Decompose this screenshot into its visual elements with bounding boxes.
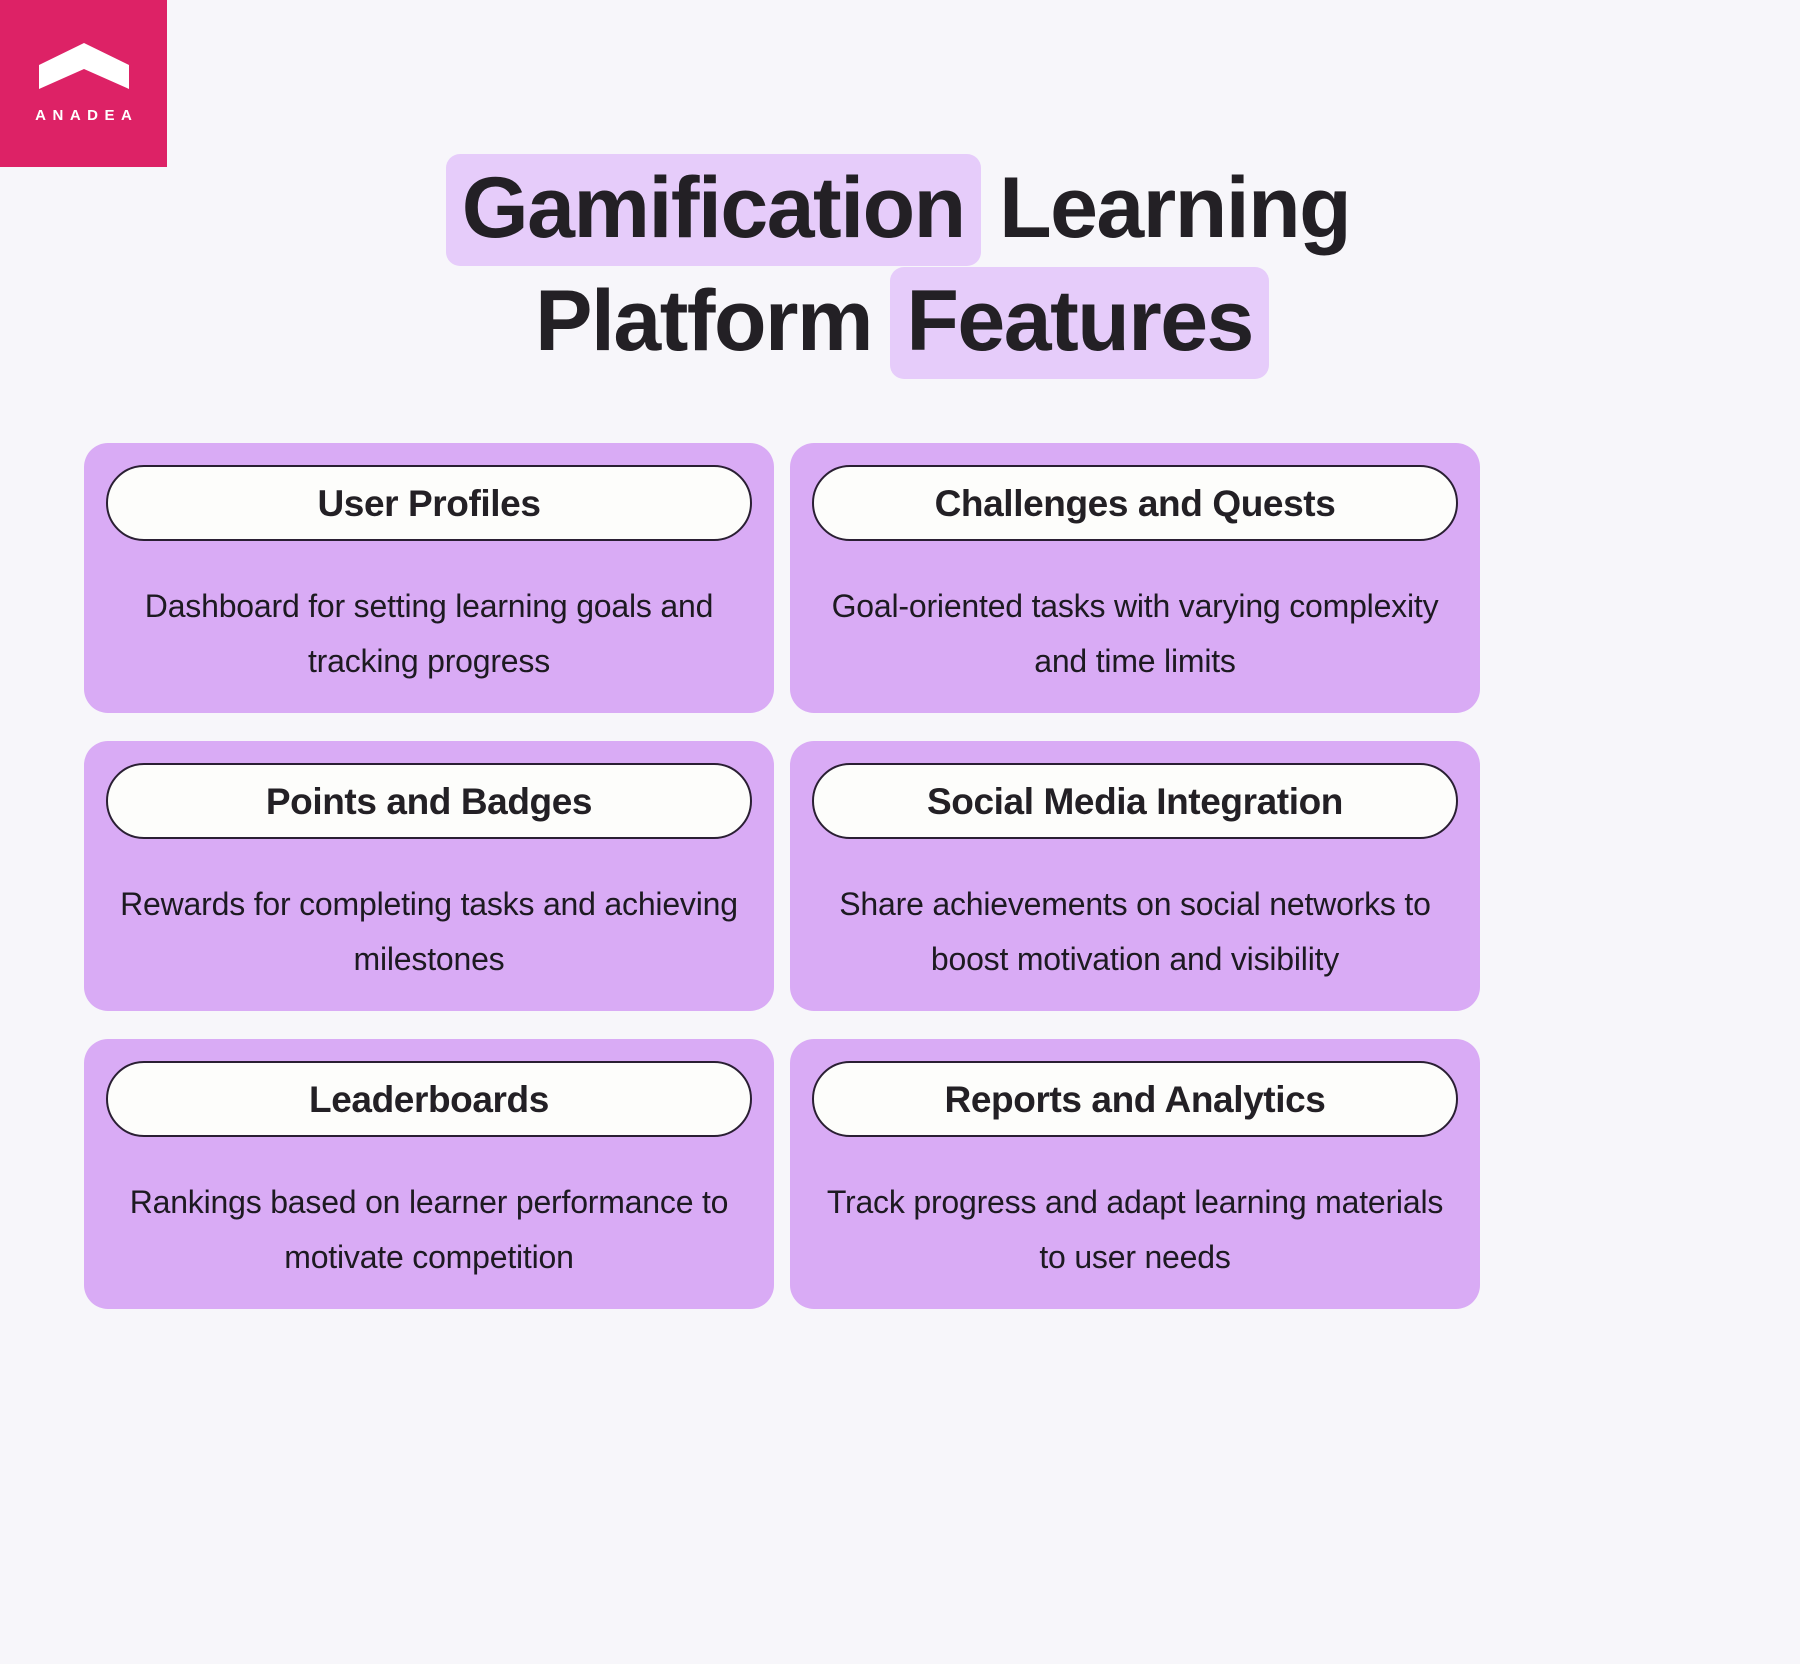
title-highlight-gamification: Gamification [446,154,981,266]
title-highlight-features: Features [890,267,1269,379]
feature-title-pill: Reports and Analytics [812,1061,1458,1137]
feature-title: Leaderboards [309,1081,549,1118]
feature-description: Goal-oriented tasks with varying complex… [815,579,1455,689]
feature-title: Social Media Integration [927,783,1343,820]
feature-description: Rankings based on learner performance to… [109,1175,749,1285]
feature-title: User Profiles [317,485,540,522]
feature-card-user-profiles: User Profiles Dashboard for setting lear… [84,443,774,713]
brand-logo: ANADEA [0,0,167,167]
brand-name: ANADEA [29,107,139,124]
title-line-2: Platform Features [0,265,1800,378]
page-title: Gamification Learning Platform Features [0,152,1800,378]
feature-card-points-and-badges: Points and Badges Rewards for completing… [84,741,774,1011]
feature-title: Reports and Analytics [945,1081,1326,1118]
title-line-1: Gamification Learning [0,152,1800,265]
feature-title: Points and Badges [266,783,592,820]
feature-card-leaderboards: Leaderboards Rankings based on learner p… [84,1039,774,1309]
feature-card-grid: User Profiles Dashboard for setting lear… [84,443,1480,1309]
feature-title-pill: Leaderboards [106,1061,752,1137]
title-plain-learning: Learning [999,160,1350,256]
feature-description: Rewards for completing tasks and achievi… [109,877,749,987]
feature-title-pill: Challenges and Quests [812,465,1458,541]
feature-title: Challenges and Quests [935,485,1336,522]
feature-card-challenges-and-quests: Challenges and Quests Goal-oriented task… [790,443,1480,713]
feature-card-reports-and-analytics: Reports and Analytics Track progress and… [790,1039,1480,1309]
chevron-mark-icon [39,43,129,89]
title-plain-platform: Platform [535,273,872,369]
feature-title-pill: Points and Badges [106,763,752,839]
feature-title-pill: Social Media Integration [812,763,1458,839]
feature-description: Share achievements on social networks to… [815,877,1455,987]
feature-card-social-media-integration: Social Media Integration Share achieveme… [790,741,1480,1011]
feature-title-pill: User Profiles [106,465,752,541]
feature-description: Dashboard for setting learning goals and… [109,579,749,689]
feature-description: Track progress and adapt learning materi… [815,1175,1455,1285]
